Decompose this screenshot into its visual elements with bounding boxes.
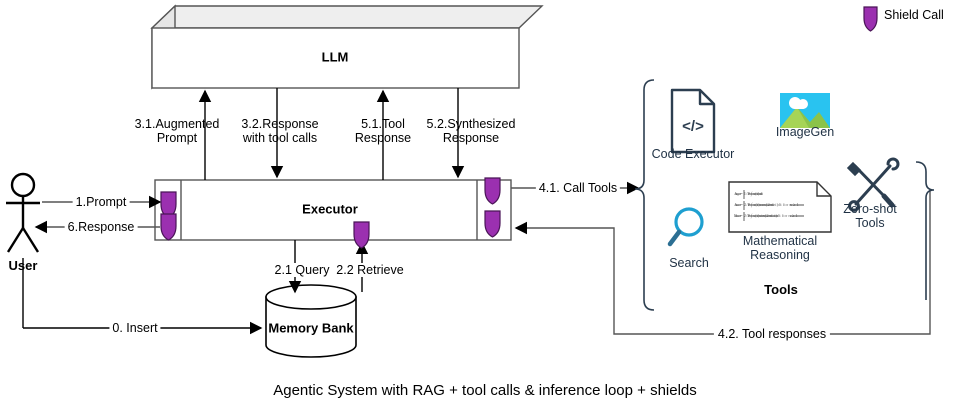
tool-label-code-executor: Code Executor [652,147,735,161]
edge-label-response: 6.Response [65,220,138,234]
llm-label: LLM [322,50,349,65]
diagram-vector-layer: </> A₀ [0,0,970,411]
executor-shield-right-bottom [485,211,500,237]
magnifier-icon[interactable] [670,209,702,244]
tools-brace-right [916,162,934,300]
edge-insert [23,258,261,328]
legend-shield-icon [864,7,877,31]
executor-label: Executor [302,202,358,217]
tools-brace [635,80,654,310]
executor-shield-memory [354,222,369,248]
executor-shield-right-top [485,178,500,204]
edge-label-tool-response: 5.1.Tool Response [335,117,431,145]
math-document-icon[interactable]: A₀ = 1/P ∫ s(t)dt Aₙ = 2/P ∫ s(t)cos(2πf… [729,182,831,232]
tool-label-mathematical-reasoning: Mathematical Reasoning [727,234,833,262]
memory-bank-label: Memory Bank [268,321,353,336]
llm-node[interactable] [152,6,542,88]
user-label: User [9,259,38,273]
tool-label-zero-shot-tools: Zero-shot Tools [830,202,910,230]
legend-label: Shield Call [884,8,944,22]
edge-label-synthesized-response: 5.2.Synthesized Response [423,117,519,145]
diagram-caption: Agentic System with RAG + tool calls & i… [273,382,697,399]
edge-label-augmented-prompt: 3.1.Augmented Prompt [129,117,225,145]
svg-text:</>: </> [682,118,704,135]
tools-group-label: Tools [764,283,798,297]
edge-label-query: 2.1 Query [273,263,332,277]
tool-label-imagegen: ImageGen [776,125,834,139]
code-file-icon[interactable]: </> [672,90,714,152]
executor-shield-left-bottom [161,214,176,240]
edge-label-tool-responses: 4.2. Tool responses [714,327,830,341]
edge-label-call-tools: 4.1. Call Tools [536,181,620,195]
user-actor[interactable] [6,174,40,252]
tool-label-search: Search [669,256,709,270]
edge-label-insert: 0. Insert [109,321,160,335]
edge-label-retrieve: 2.2 Retrieve [334,263,405,277]
edge-label-response-tool-calls: 3.2.Response with tool calls [232,117,328,145]
edge-label-prompt: 1.Prompt [73,195,130,209]
diagram-canvas: </> A₀ [0,0,970,411]
image-icon[interactable] [780,93,830,128]
